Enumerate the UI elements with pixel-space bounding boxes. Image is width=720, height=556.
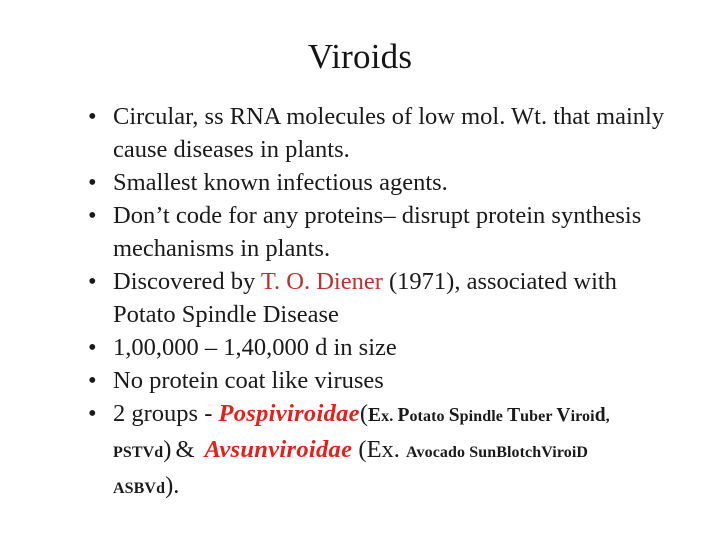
list-item-text: No protein coat like viruses <box>113 364 672 397</box>
example-one-cap-d: d <box>595 405 606 426</box>
list-item-text: Discovered by T. O. Diener (1971), assoc… <box>113 265 672 331</box>
example-two-prefix: Ex. <box>367 436 406 463</box>
bullet-icon: • <box>88 166 104 199</box>
two-groups-lead: 2 groups - <box>113 400 218 427</box>
taxon-pospiviroidae: Pospiviroidae <box>218 400 359 427</box>
list-item-text: 2 groups - Pospiviroidae(Ex. Potato Spin… <box>113 397 672 505</box>
example-one-iroi: iroi <box>571 408 595 425</box>
abbrev-asbvd: ASBVd <box>113 480 165 497</box>
ampersand-separator: & <box>171 436 204 463</box>
list-item-text: 1,00,000 – 1,40,000 d in size <box>113 331 672 364</box>
bullet-icon: • <box>88 364 104 397</box>
example-one-cap-e: E <box>368 405 381 426</box>
list-item-two-groups: • 2 groups - Pospiviroidae(Ex. Potato Sp… <box>86 397 672 505</box>
example-one-comma: , <box>606 408 610 425</box>
open-paren-one: ( <box>360 400 368 427</box>
list-item-no-protein-code: • Don’t code for any proteins– disrupt p… <box>86 199 672 265</box>
abbrev-pstvd: PSTVd <box>113 444 163 461</box>
discoverer-name: T. O. Diener <box>261 268 383 295</box>
list-item-discovered-by: • Discovered by T. O. Diener (1971), ass… <box>86 265 672 331</box>
list-item-no-protein-coat: • No protein coat like viruses <box>86 364 672 397</box>
list-item-text: Circular, ss RNA molecules of low mol. W… <box>113 100 672 166</box>
list-item-circular-ss-rna: • Circular, ss RNA molecules of low mol.… <box>86 100 672 166</box>
bullet-icon: • <box>88 100 104 133</box>
example-one-x: x. <box>381 408 397 425</box>
list-item-size-range: • 1,00,000 – 1,40,000 d in size <box>86 331 672 364</box>
example-one-cap-p: P <box>397 405 409 426</box>
example-avsunviroidae: Avocado SunBlotchViroiD <box>406 444 588 461</box>
bullet-icon: • <box>88 397 104 430</box>
example-one-otato: otato <box>409 408 448 425</box>
example-pospiviroidae: Ex. Potato Spindle Tuber Viroid, <box>368 408 610 425</box>
page-title: Viroids <box>0 36 720 78</box>
bullet-list: • Circular, ss RNA molecules of low mol.… <box>86 100 672 505</box>
example-one-cap-v: V <box>556 405 570 426</box>
list-item-smallest-agents: • Smallest known infectious agents. <box>86 166 672 199</box>
list-item-text: Smallest known infectious agents. <box>113 166 672 199</box>
bullet-icon: • <box>88 331 104 364</box>
close-paren-two: ). <box>165 472 179 499</box>
example-one-cap-t: T <box>507 405 520 426</box>
example-one-pindle: pindle <box>460 408 507 425</box>
bullet-icon: • <box>88 265 104 298</box>
example-one-cap-s: S <box>449 405 460 426</box>
example-one-uber: uber <box>520 408 556 425</box>
list-item-text: Don’t code for any proteins– disrupt pro… <box>113 199 672 265</box>
taxon-avsunviroidae: Avsunviroidae <box>205 436 353 463</box>
open-paren-two-glyph: ( <box>358 436 366 463</box>
slide-canvas: Viroids • Circular, ss RNA molecules of … <box>0 0 720 556</box>
discovery-lead: Discovered by <box>113 268 261 295</box>
bullet-icon: • <box>88 199 104 232</box>
